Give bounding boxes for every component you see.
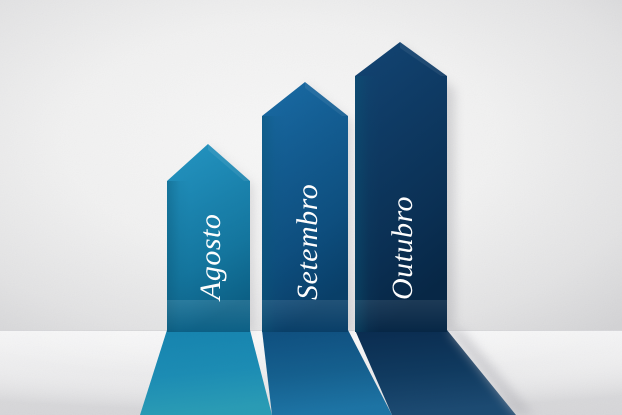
bar-chart-scene: Agosto Setembro Outubro bbox=[0, 0, 622, 415]
chart-canvas: Agosto Setembro Outubro bbox=[0, 0, 622, 415]
scene-grain bbox=[0, 0, 622, 415]
